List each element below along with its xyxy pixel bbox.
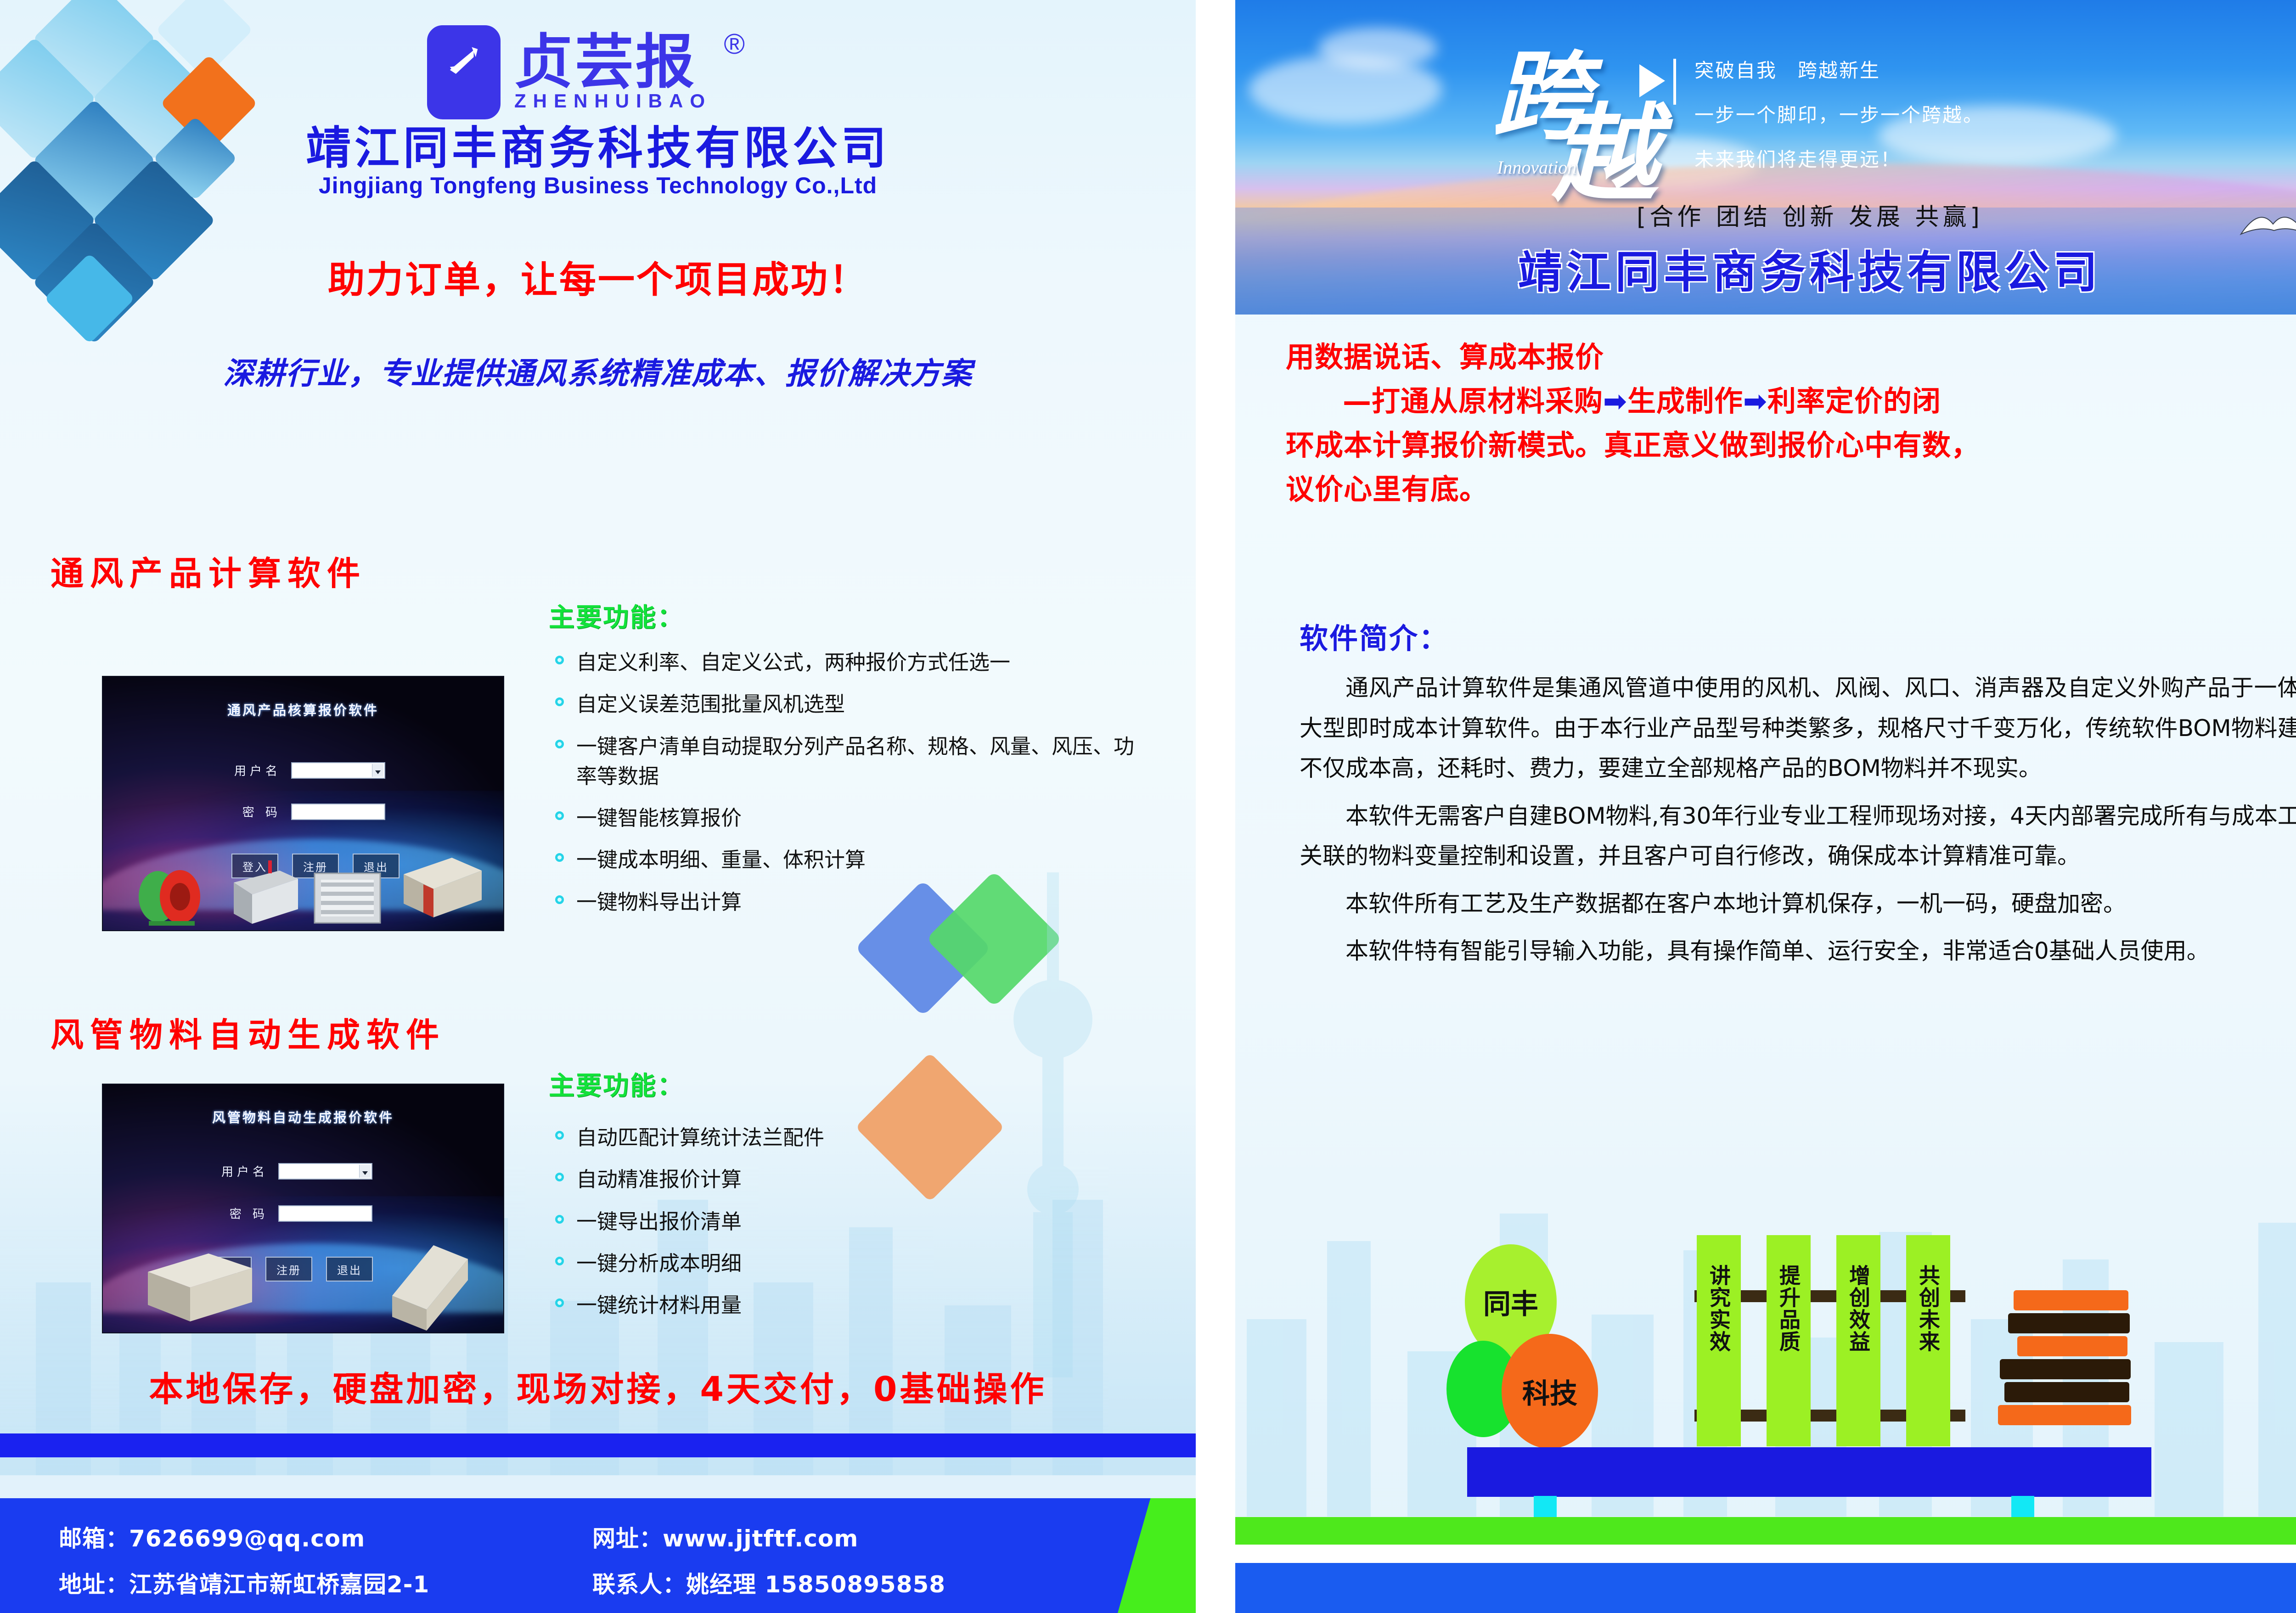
banner-cap-bottom	[1697, 1357, 1741, 1382]
green-strip	[1235, 1517, 2296, 1545]
footer-email-label: 邮箱：	[59, 1525, 129, 1552]
zhenhuibao-glyph-icon	[439, 37, 489, 87]
banner-tagline-2: 一步一个脚印，一步一个跨越。	[1694, 100, 1984, 128]
registered-trademark-icon: ®	[724, 28, 745, 61]
vertical-banner-text: 共创未来	[1913, 1265, 1943, 1353]
software-intro-body: 通风产品计算软件是集通风管道中使用的风机、风阀、风口、消声器及自定义外购产品于一…	[1300, 668, 2296, 979]
feature-item: 自动匹配计算统计法兰配件	[549, 1123, 1141, 1152]
banner-tagline-3: 未来我们将走得更远！	[1694, 144, 1984, 172]
headline-line-2c: 利率定价的闭	[1767, 384, 1941, 418]
left-poster-panel: 贞芸报 ZHENHUIBAO ® 靖江同丰商务科技有限公司 Jingjiang …	[0, 0, 1196, 1613]
banner-cap-bottom	[1906, 1357, 1950, 1382]
headline-line-2b: 生成制作	[1627, 384, 1743, 418]
section1-password-input[interactable]	[291, 804, 385, 820]
section1-username-input[interactable]	[291, 762, 385, 779]
arrow-right-icon-2: ➡	[1743, 384, 1767, 418]
logo-chinese-name: 贞芸报	[514, 33, 712, 93]
air-grille-product-image	[312, 871, 383, 926]
feature-item: 自动精准报价计算	[549, 1164, 1141, 1194]
feature-item: 一键智能核算报价	[549, 803, 1141, 833]
left-slogan-blue: 深耕行业，专业提供通风系统精准成本、报价解决方案	[0, 349, 1196, 393]
chevron-down-icon[interactable]	[372, 764, 383, 777]
section1-software-screenshot: 通风产品核算报价软件 用户名 密 码 登入 注册 退出	[102, 676, 504, 931]
section2-exit-button[interactable]: 退出	[326, 1257, 373, 1281]
poster-page: 贞芸报 ZHENHUIBAO ® 靖江同丰商务科技有限公司 Jingjiang …	[0, 0, 2296, 1613]
footer-address-value: 江苏省靖江市新虹桥嘉园2-1	[129, 1571, 429, 1598]
section2-shot-title: 风管物料自动生成报价软件	[103, 1107, 503, 1126]
section2-features-list: 自动匹配计算统计法兰配件自动精准报价计算一键导出报价清单一键分析成本明细一键统计…	[549, 1123, 1141, 1332]
innovation-label: Innovation	[1497, 157, 1576, 178]
feature-item: 一键导出报价清单	[549, 1207, 1141, 1236]
blue-strip	[1235, 1563, 2296, 1613]
vertical-rule-divider	[1673, 59, 1676, 105]
section1-shot-title: 通风产品核算报价软件	[103, 700, 503, 719]
vertical-banner-text: 讲究实效	[1704, 1265, 1734, 1353]
section2-password-label: 密 码	[213, 1205, 268, 1222]
section1-title: 通风产品计算软件	[51, 546, 366, 595]
left-company-name-en: Jingjiang Tongfeng Business Technology C…	[0, 172, 1196, 199]
section2-username-input[interactable]	[278, 1163, 372, 1180]
logo-mark-icon	[427, 25, 501, 119]
right-company-name: 靖江同丰商务科技有限公司	[1235, 236, 2296, 300]
intro-paragraph: 通风产品计算软件是集通风管道中使用的风机、风阀、风口、消声器及自定义外购产品于一…	[1300, 668, 2296, 789]
left-company-name-cn: 靖江同丰商务科技有限公司	[0, 112, 1196, 177]
section1-features-heading: 主要功能：	[549, 597, 684, 634]
feature-item: 自定义误差范围批量风机选型	[549, 689, 1141, 719]
section2-software-screenshot: 风管物料自动生成报价软件 用户名 密 码 登入 注册 退出	[102, 1084, 504, 1333]
duct-box-product-image	[140, 1240, 259, 1327]
platform-bar	[1467, 1447, 2151, 1497]
banner-tagline-1: 突破自我 跨越新生	[1694, 55, 1984, 83]
section1-username-label: 用户名	[226, 762, 281, 779]
feature-item: 一键成本明细、重量、体积计算	[549, 845, 1141, 875]
vertical-banner-text: 增创效益	[1843, 1265, 1874, 1353]
vertical-banner-text: 提升品质	[1773, 1265, 1804, 1353]
right-headline: 用数据说话、算成本报价 —打通从原材料采购➡生成制作➡利率定价的闭 环成本计算报…	[1286, 335, 2296, 511]
kuayue-calligraphy: 跨 越 Innovation	[1492, 9, 1644, 179]
brand-logo: 贞芸报 ZHENHUIBAO ®	[427, 25, 712, 119]
white-strip	[1235, 1545, 2296, 1563]
section2-title: 风管物料自动生成软件	[51, 1008, 445, 1056]
vertical-banner: 提升品质	[1767, 1235, 1811, 1446]
banner-cap-bottom	[1767, 1357, 1811, 1382]
right-poster-panel: 跨 越 Innovation 突破自我 跨越新生 一步一个脚印，一步一个跨越。 …	[1235, 0, 2296, 1613]
silencer-product-image	[225, 855, 305, 928]
banner-cap-top	[1697, 1235, 1741, 1260]
headline-line-2a: —打通从原材料采购	[1343, 384, 1603, 418]
left-bottom-red-slogan: 本地保存，硬盘加密，现场对接，4天交付，0基础操作	[0, 1362, 1196, 1411]
banner-cap-top	[1836, 1235, 1880, 1260]
headline-line-1: 用数据说话、算成本报价	[1286, 335, 2296, 379]
feature-item: 自定义利率、自定义公式，两种报价方式任选一	[549, 647, 1141, 677]
feature-item: 一键分析成本明细	[549, 1248, 1141, 1278]
section2-features-heading: 主要功能：	[549, 1065, 684, 1102]
right-banner: 跨 越 Innovation 突破自我 跨越新生 一步一个脚印，一步一个跨越。 …	[1235, 0, 2296, 315]
vertical-banner: 共创未来	[1906, 1235, 1950, 1446]
footer-contact-label: 联系人：	[592, 1571, 686, 1598]
section2-register-button[interactable]: 注册	[265, 1257, 312, 1281]
section2-username-label: 用户名	[213, 1163, 268, 1180]
intro-paragraph: 本软件特有智能引导输入功能，具有操作简单、运行安全，非常适合0基础人员使用。	[1300, 931, 2296, 972]
headline-line-4: 议价心里有底。	[1286, 467, 2296, 511]
section1-password-label: 密 码	[226, 803, 281, 820]
banner-cap-bottom	[1836, 1357, 1880, 1382]
logo-english-name: ZHENHUIBAO	[514, 90, 712, 112]
footer-address-label: 地址：	[59, 1571, 129, 1598]
feature-item: 一键客户清单自动提取分列产品名称、规格、风量、风压、功率等数据	[549, 731, 1141, 792]
vertical-banner: 增创效益	[1836, 1235, 1880, 1446]
book-stack-graphic	[1995, 1290, 2133, 1428]
duct-product-image	[397, 852, 486, 921]
duct-elbow-product-image	[378, 1241, 475, 1332]
vertical-banner: 讲究实效	[1697, 1235, 1741, 1446]
chevron-down-icon[interactable]	[359, 1165, 371, 1178]
seagull-icon	[2236, 197, 2296, 253]
left-blue-divider-bar	[0, 1433, 1196, 1457]
banner-core-values: [合作 团结 创新 发展 共赢]	[1235, 197, 2296, 232]
footer-contact-value: 姚经理 15850895858	[686, 1571, 945, 1598]
left-slogan-red: 助力订单，让每一个项目成功！	[0, 250, 1196, 303]
footer-green-wedge	[1118, 1498, 1196, 1613]
headline-line-3: 环成本计算报价新模式。真正意义做到报价心中有数，	[1286, 423, 2296, 467]
intro-paragraph: 本软件所有工艺及生产数据都在客户本地计算机保存，一机一码，硬盘加密。	[1300, 884, 2296, 924]
banner-cap-top	[1767, 1235, 1811, 1260]
arrow-right-icon-1: ➡	[1603, 384, 1627, 418]
software-intro-title: 软件简介：	[1300, 615, 1449, 657]
banner-taglines: 突破自我 跨越新生 一步一个脚印，一步一个跨越。 未来我们将走得更远！	[1694, 55, 1984, 189]
play-triangle-icon	[1639, 64, 1665, 97]
feature-item: 一键统计材料用量	[549, 1290, 1141, 1320]
section2-password-input[interactable]	[278, 1205, 372, 1222]
axial-fan-product-image	[130, 858, 218, 927]
footer-website-value[interactable]: www.jjtftf.com	[663, 1525, 858, 1552]
footer-email-value[interactable]: 7626699@qq.com	[129, 1525, 365, 1552]
footer-website-label: 网址：	[592, 1525, 663, 1552]
left-footer: 邮箱：7626699@qq.com 网址：www.jjtftf.com 地址：江…	[0, 1498, 1196, 1613]
banner-cap-top	[1906, 1235, 1950, 1260]
intro-paragraph: 本软件无需客户自建BOM物料,有30年行业专业工程师现场对接，4天内部署完成所有…	[1300, 796, 2296, 877]
emblem-ellipse-keji: 科技	[1502, 1334, 1598, 1449]
